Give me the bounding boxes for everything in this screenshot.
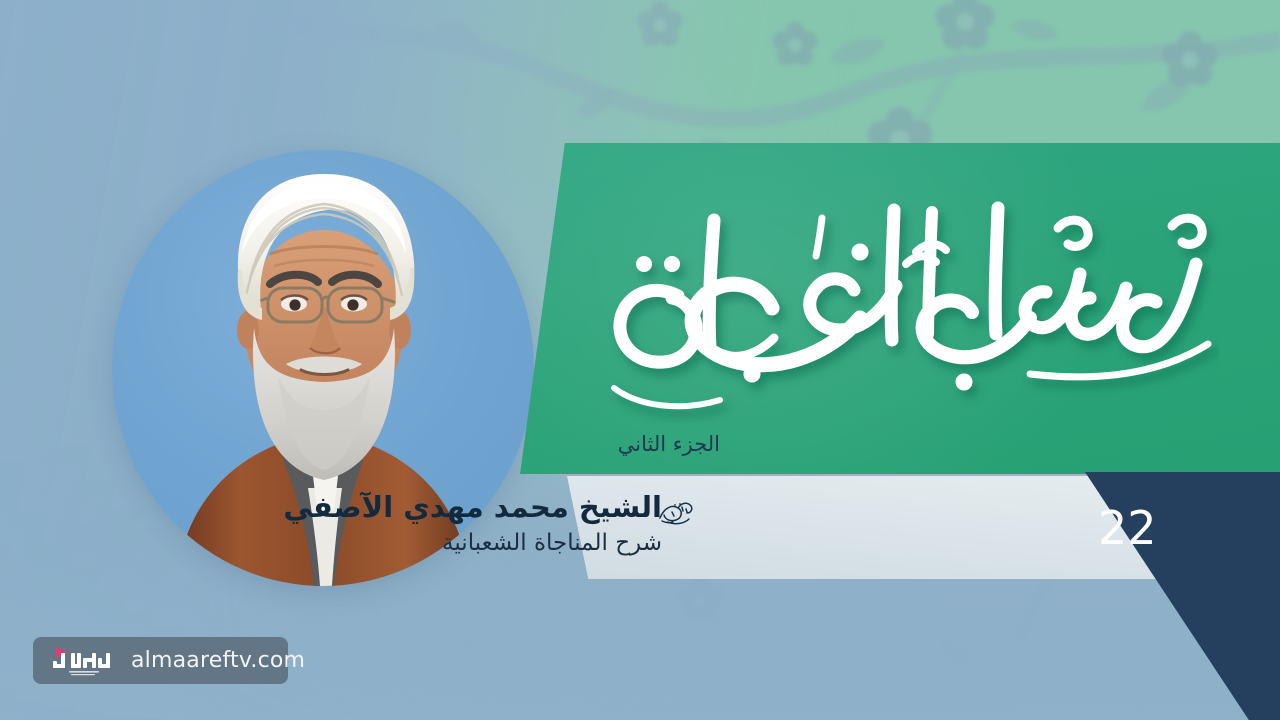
rahimahullah-calligraphy-icon <box>656 496 696 530</box>
series-subtitle: شرح المناجاة الشعبانية <box>442 530 662 556</box>
part-label: الجزء الثاني <box>618 432 720 456</box>
website-url: almaareftv.com <box>131 648 305 673</box>
poster-canvas: الجزء الثاني الشيخ محمد مهدي الآصفي شرح … <box>0 0 1280 720</box>
channel-logo[interactable]: almaareftv.com <box>33 637 288 684</box>
episode-number: 22 <box>1098 505 1157 551</box>
almaaref-logo-icon <box>47 644 121 678</box>
speaker-name: الشيخ محمد مهدي الآصفي <box>283 490 662 524</box>
series-title-calligraphy <box>560 168 1220 423</box>
